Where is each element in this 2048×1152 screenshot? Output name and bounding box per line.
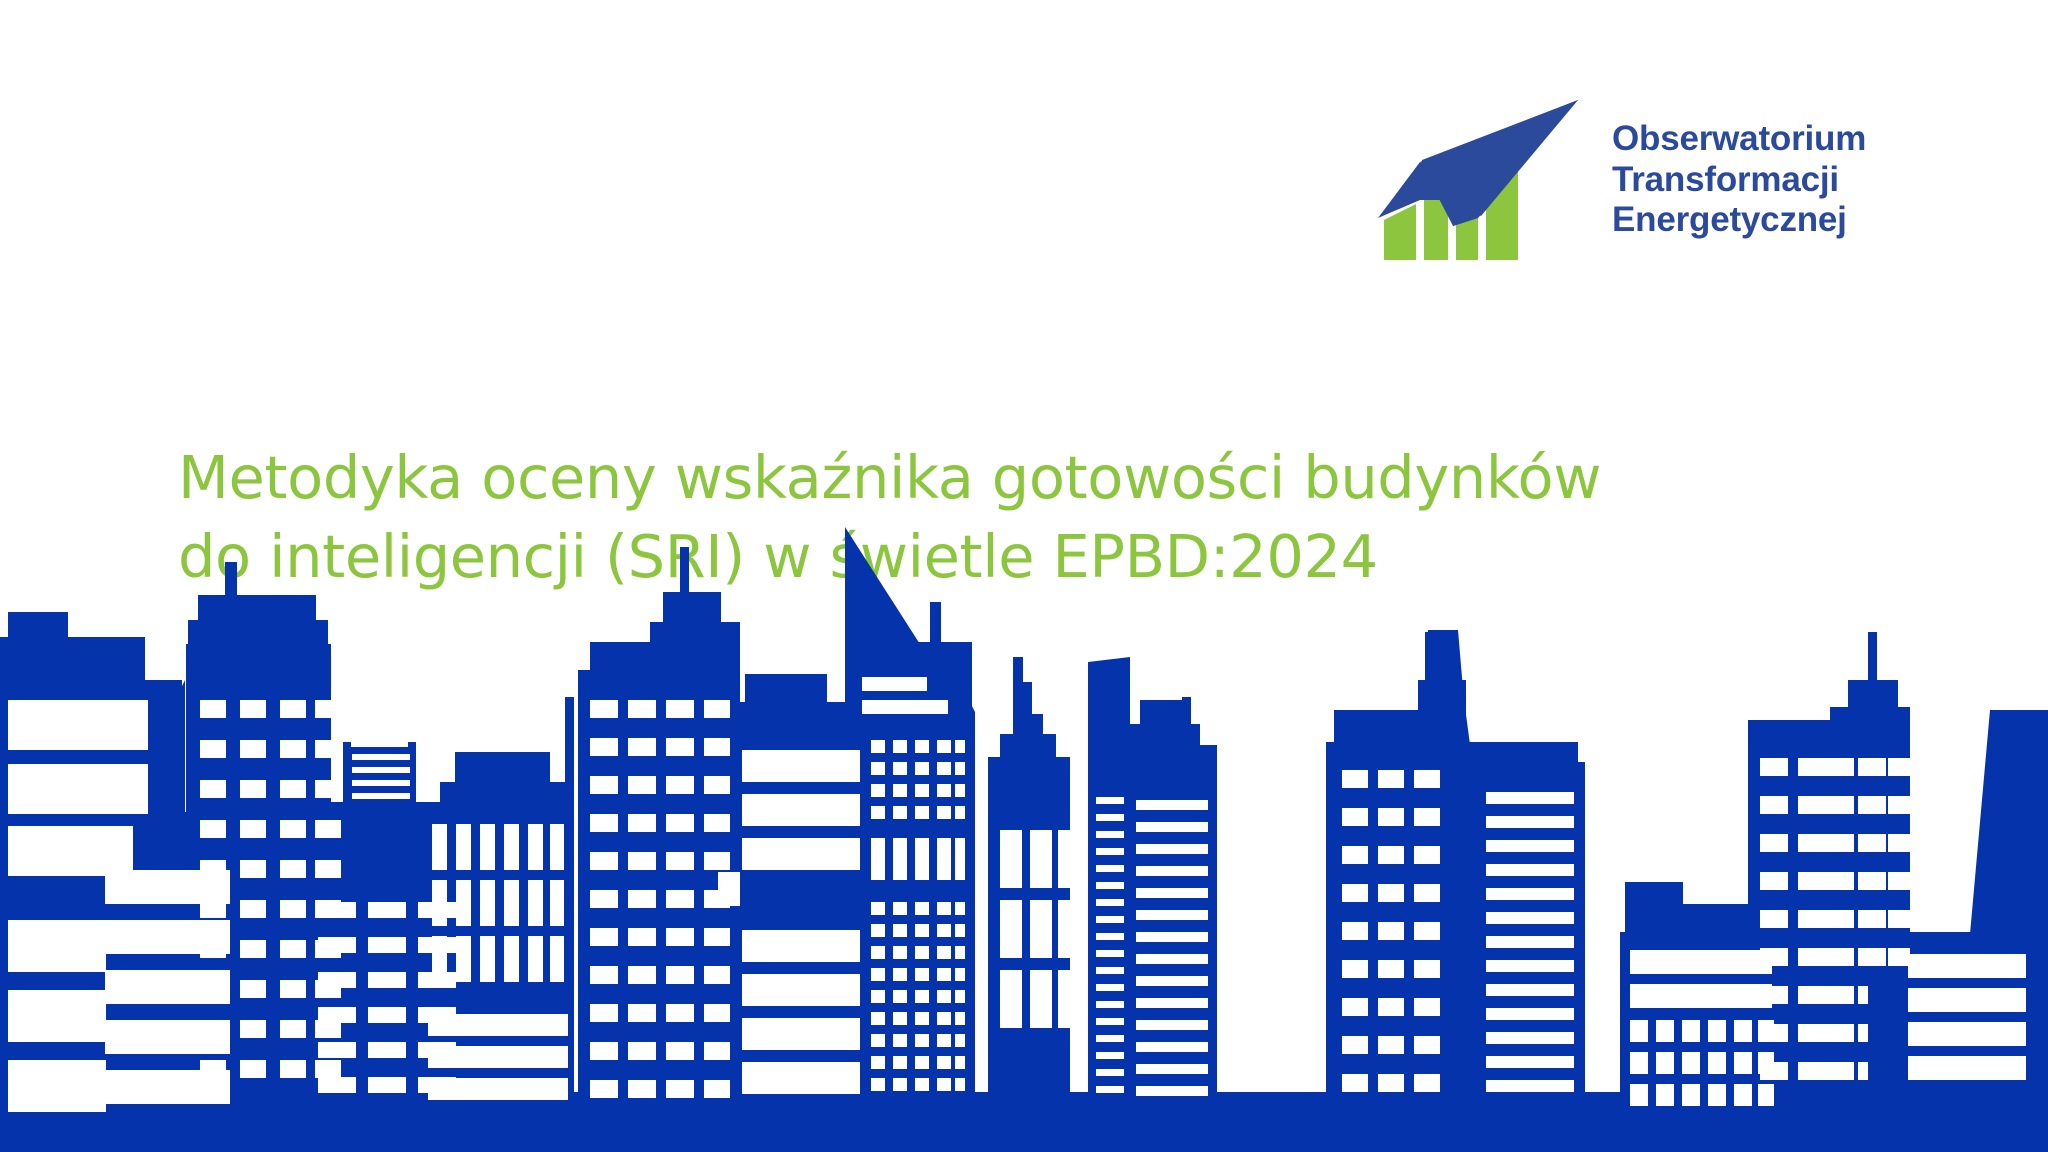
logo-line-1: Obserwatorium bbox=[1612, 119, 1866, 160]
logo-wordmark: Obserwatorium Transformacji Energetyczne… bbox=[1612, 119, 1866, 242]
rising-arrow-bar-chart-logo-icon bbox=[1378, 100, 1588, 260]
logo-line-2: Transformacji bbox=[1612, 160, 1866, 201]
logo-line-3: Energetycznej bbox=[1612, 200, 1866, 241]
city-skyline-silhouette bbox=[0, 452, 2048, 1152]
organization-logo: Obserwatorium Transformacji Energetyczne… bbox=[1378, 100, 1968, 260]
slide-canvas: Obserwatorium Transformacji Energetyczne… bbox=[0, 0, 2048, 1152]
